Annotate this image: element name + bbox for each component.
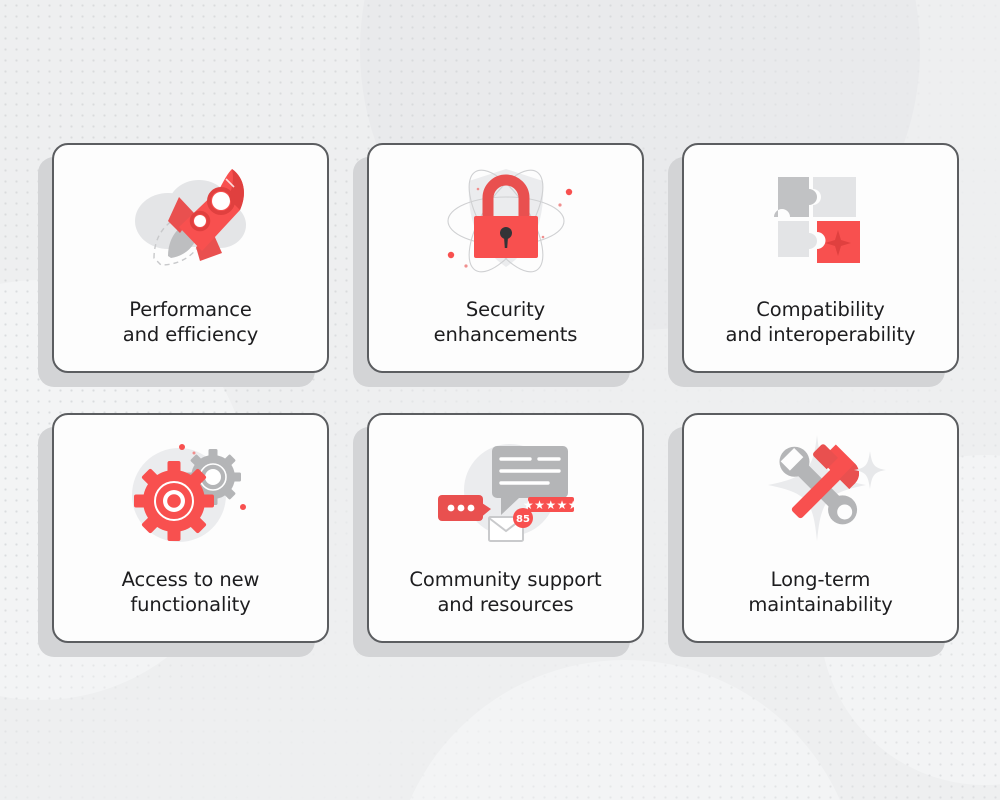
chat-bubbles-icon: ★★★★★ 85: [431, 429, 581, 551]
feature-card-grid: Performance and efficiency: [52, 143, 960, 643]
feature-card-maintainability[interactable]: Long-term maintainability: [682, 413, 959, 643]
card-body[interactable]: Long-term maintainability: [682, 413, 959, 643]
puzzle-pieces-icon: [746, 159, 896, 281]
hammer-wrench-icon: [746, 429, 896, 551]
mail-count-badge: 85: [513, 508, 533, 528]
svg-text:85: 85: [516, 514, 530, 525]
feature-card-compatibility[interactable]: Compatibility and interoperability: [682, 143, 959, 373]
padlock-shield-icon: [431, 159, 581, 281]
card-title: Community support and resources: [409, 567, 601, 617]
card-body[interactable]: Security enhancements: [367, 143, 644, 373]
rocket-icon: [116, 159, 266, 281]
gears-icon: [116, 429, 266, 551]
feature-card-community-support[interactable]: ★★★★★ 85 Community support and resources: [367, 413, 644, 643]
card-body[interactable]: ★★★★★ 85 Community support and resources: [367, 413, 644, 643]
feature-card-new-functionality[interactable]: Access to new functionality: [52, 413, 329, 643]
card-title: Access to new functionality: [122, 567, 260, 617]
feature-card-performance[interactable]: Performance and efficiency: [52, 143, 329, 373]
card-body[interactable]: Performance and efficiency: [52, 143, 329, 373]
card-title: Security enhancements: [434, 297, 578, 347]
card-title: Compatibility and interoperability: [726, 297, 916, 347]
svg-text:★★★★★: ★★★★★: [522, 498, 578, 512]
card-body[interactable]: Access to new functionality: [52, 413, 329, 643]
feature-card-security[interactable]: Security enhancements: [367, 143, 644, 373]
card-title: Long-term maintainability: [748, 567, 892, 617]
card-body[interactable]: Compatibility and interoperability: [682, 143, 959, 373]
star-rating-tag: ★★★★★: [522, 497, 578, 512]
card-title: Performance and efficiency: [123, 297, 258, 347]
